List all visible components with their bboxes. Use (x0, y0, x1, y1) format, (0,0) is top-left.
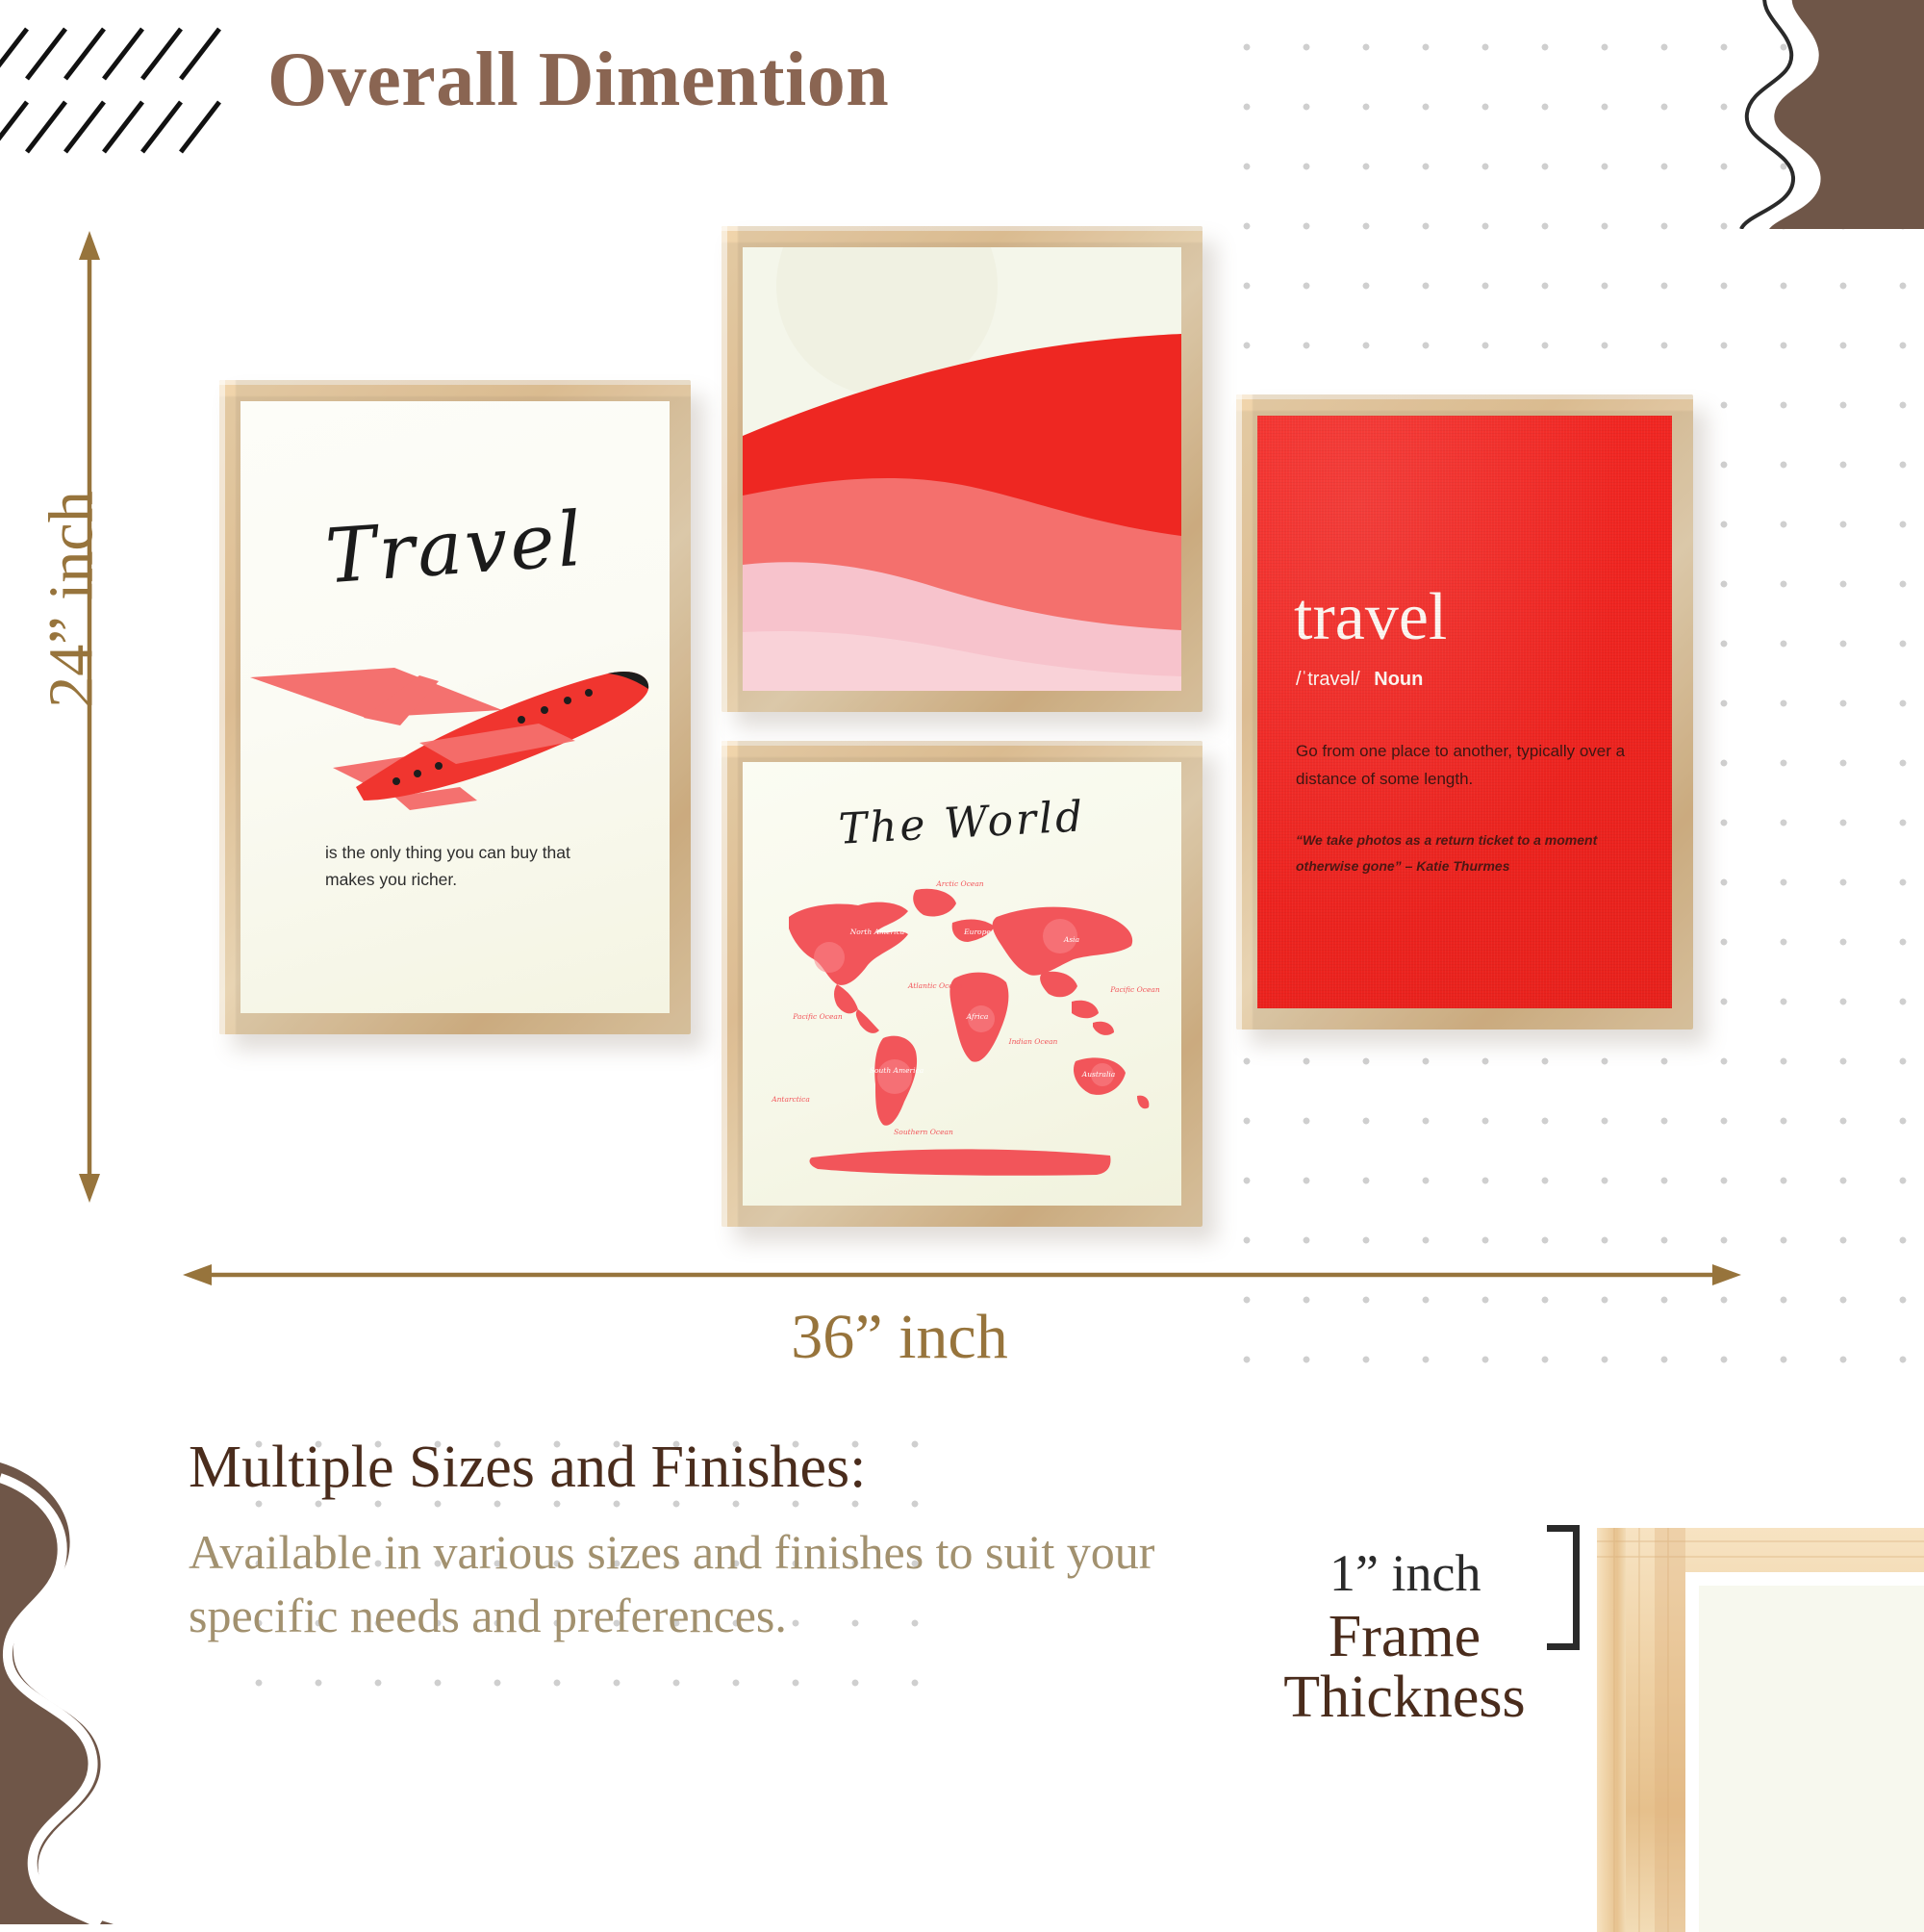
horizontal-dimension-label: 36” inch (0, 1301, 1924, 1374)
definition-quote: “We take photos as a return ticket to a … (1296, 827, 1633, 880)
finishes-body: Available in various sizes and finishes … (189, 1520, 1218, 1647)
poster-artwork-world-map: The World (743, 762, 1181, 1206)
poster-mat: The World (743, 762, 1181, 1206)
map-label-pacific-ocean-right: Pacific Ocean (1109, 985, 1160, 994)
vertical-dimension-label: 24” inch (36, 491, 109, 707)
poster-artwork-travel-definition: travel /ˈtravəl/ Noun Go from one place … (1257, 416, 1672, 1008)
definition-word: travel (1294, 584, 1447, 651)
framed-poster-world-map[interactable]: The World (721, 741, 1202, 1227)
poster-artwork-abstract-waves (743, 247, 1181, 691)
definition-phonetic-row: /ˈtravəl/ Noun (1296, 669, 1423, 691)
world-map-graphic: North America South America Europe Asia … (754, 873, 1170, 1181)
frame-thickness-label-line2: Thickness (1193, 1667, 1616, 1728)
abstract-wave-graphic (743, 247, 1181, 691)
poster-script-title: Travel (240, 491, 670, 607)
vertical-dimension-arrow (75, 231, 104, 1203)
map-label-africa: Africa (966, 1012, 989, 1021)
framed-poster-travel-definition[interactable]: travel /ˈtravəl/ Noun Go from one place … (1236, 394, 1693, 1030)
horizontal-dimension-text: 36” inch (791, 1302, 1007, 1372)
page-title: Overall Dimention (267, 37, 889, 124)
poster-mat: travel /ˈtravəl/ Noun Go from one place … (1257, 416, 1672, 1008)
frame-corner-sample (1597, 1528, 1924, 1932)
definition-phonetic: /ˈtravəl/ (1296, 669, 1360, 690)
map-label-indian-ocean: Indian Ocean (1008, 1037, 1058, 1046)
poster-script-title: The World (743, 787, 1181, 859)
map-label-atlantic-ocean: Atlantic Ocean (907, 981, 962, 990)
diagonal-hatch-decoration (0, 21, 221, 156)
definition-meaning: Go from one place to another, typically … (1296, 738, 1652, 793)
map-label-pacific-ocean-left: Pacific Ocean (792, 1012, 843, 1021)
map-label-australia: Australia (1081, 1070, 1115, 1079)
frame-thickness-value: 1” inch (1329, 1543, 1481, 1603)
map-label-europe: Europe (963, 928, 991, 936)
map-label-antarctica: Antarctica (771, 1095, 810, 1104)
poster-caption: is the only thing you can buy that makes… (325, 839, 614, 894)
map-label-north-america: North America (849, 928, 905, 936)
horizontal-dimension-arrow (183, 1260, 1741, 1289)
poster-mat (743, 247, 1181, 691)
finishes-heading: Multiple Sizes and Finishes: (189, 1434, 866, 1502)
map-label-asia: Asia (1063, 935, 1079, 944)
map-label-south-america: South America (870, 1066, 924, 1075)
definition-part-of-speech: Noun (1374, 669, 1423, 690)
framed-poster-travel-plane[interactable]: Travel (219, 380, 691, 1034)
decorative-blob-top-right (1732, 0, 1924, 229)
poster-artwork-travel-plane: Travel (240, 401, 670, 1013)
poster-mat: Travel (240, 401, 670, 1013)
map-label-southern-ocean: Southern Ocean (894, 1128, 953, 1136)
framed-poster-abstract-waves[interactable] (721, 226, 1202, 712)
airplane-illustration (250, 618, 670, 853)
frame-thickness-label-line1: Frame (1193, 1607, 1616, 1667)
frame-thickness-label: Frame Thickness (1193, 1607, 1616, 1728)
map-label-arctic-ocean: Arctic Ocean (935, 879, 983, 888)
